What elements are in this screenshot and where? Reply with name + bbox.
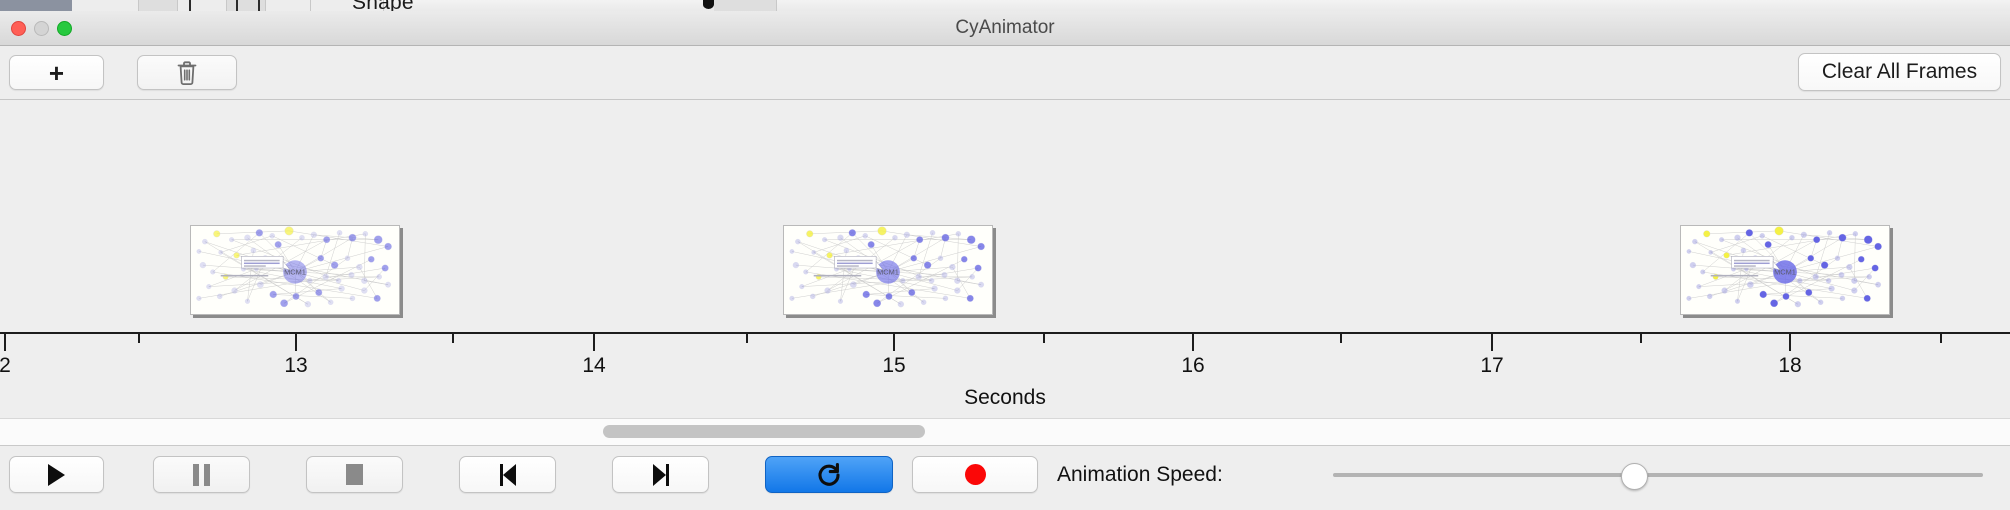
axis-tick-label: 14 [582,354,605,378]
axis-title: Seconds [0,386,2010,410]
axis-tick [593,334,595,351]
frames-strip: MCM1MCM1MCM1 [0,100,2010,332]
axis-tick-label: 16 [1181,354,1204,378]
pause-icon [193,464,210,486]
axis-tick [452,334,454,343]
axis-tick [893,334,895,351]
horizontal-scrollbar[interactable] [0,418,2010,446]
playback-bar: Animation Speed: [0,446,2010,510]
loop-button[interactable] [765,456,893,493]
axis-tick-label: 13 [284,354,307,378]
animation-speed-slider[interactable] [1333,456,1983,493]
axis-tick-label: 17 [1480,354,1503,378]
slider-track [1333,473,1983,477]
axis-tick-label: 15 [882,354,905,378]
skip-start-button[interactable] [459,456,556,493]
axis-tick [1192,334,1194,351]
axis-tick [1789,334,1791,351]
clear-all-frames-label: Clear All Frames [1822,60,1977,84]
trash-icon [176,60,198,86]
loop-icon [816,462,842,488]
axis-tick-label: 18 [1778,354,1801,378]
frame-thumbnail: MCM1 [1681,226,1889,314]
background-cursor-mark [703,0,714,9]
axis-tick [1491,334,1493,351]
frame-thumbnail: MCM1 [784,226,992,314]
clear-all-frames-button[interactable]: Clear All Frames [1798,53,2001,91]
play-button[interactable] [9,456,104,493]
record-button[interactable] [912,456,1038,493]
horizontal-scrollbar-thumb[interactable] [603,425,925,438]
timeline-frame[interactable]: MCM1 [783,225,993,315]
axis-tick [1940,334,1942,343]
cyanimator-window: CyAnimator + Clear All Frames MCM1MCM1MC… [0,11,2010,510]
timeline-panel[interactable]: MCM1MCM1MCM1 2131415161718 Seconds [0,100,2010,418]
frame-thumbnail: MCM1 [191,226,399,314]
timeline-frame[interactable]: MCM1 [190,225,400,315]
delete-frame-button[interactable] [137,55,237,90]
axis-tick [1340,334,1342,343]
timeline-frame[interactable]: MCM1 [1680,225,1890,315]
skip-start-icon [500,464,516,486]
toolbar: + Clear All Frames [0,46,2010,100]
skip-end-icon [653,464,669,486]
axis-tick-label: 2 [0,354,11,378]
timeline-ticks: 2131415161718 [0,334,2010,394]
window-title: CyAnimator [0,11,2010,45]
animation-speed-label: Animation Speed: [1057,456,1223,493]
slider-thumb[interactable] [1621,463,1648,490]
skip-end-button[interactable] [612,456,709,493]
stop-button[interactable] [306,456,403,493]
play-icon [48,464,65,486]
axis-tick [1640,334,1642,343]
stop-icon [346,464,363,485]
axis-tick [746,334,748,343]
axis-tick [4,334,6,351]
record-icon [965,464,986,485]
add-frame-button[interactable]: + [9,55,104,90]
axis-tick [1043,334,1045,343]
title-bar[interactable]: CyAnimator [0,11,2010,46]
pause-button[interactable] [153,456,250,493]
axis-tick [138,334,140,343]
axis-tick [295,334,297,351]
